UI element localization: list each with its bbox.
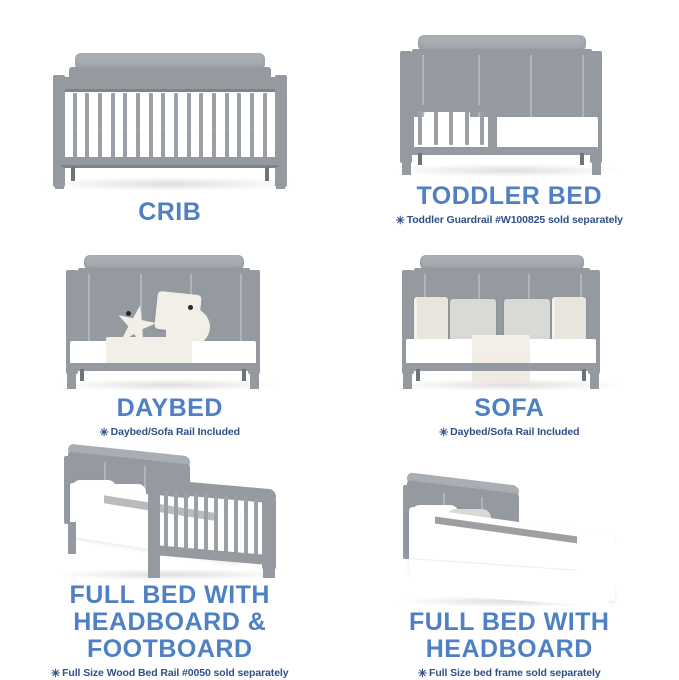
crib-photo bbox=[0, 0, 340, 199]
crib-back-panel-edge bbox=[57, 89, 283, 92]
toddler-bed-photo bbox=[340, 0, 679, 183]
sofa-support-right bbox=[582, 369, 586, 381]
full-bed-hf-leg-back bbox=[263, 562, 275, 578]
toddler-bed-guardrail-left-post bbox=[406, 105, 414, 149]
daybed-leg-right bbox=[250, 371, 259, 389]
daybed-photo bbox=[0, 226, 340, 395]
daybed-illustration bbox=[48, 245, 292, 395]
crib-caption: CRIB bbox=[0, 199, 340, 226]
daybed-leg-left bbox=[67, 371, 76, 389]
full-bed-hf-shadow bbox=[58, 569, 282, 580]
product-cell-full-bed-headboard: FULL BED WITH HEADBOARD ✳Full Size bed f… bbox=[340, 438, 679, 679]
toddler-bed-side-rail bbox=[406, 147, 598, 155]
crib-leg-left bbox=[55, 167, 64, 189]
full-bed-hf-title: FULL BED WITH HEADBOARD & FOOTBOARD bbox=[0, 582, 340, 663]
crib-title: CRIB bbox=[0, 199, 340, 226]
conversion-chart-grid: CRIB bbox=[0, 0, 679, 679]
sofa-cushion-1 bbox=[414, 297, 448, 343]
toddler-bed-support-left bbox=[418, 153, 422, 165]
full-bed-hf-note-text: Full Size Wood Bed Rail #0050 sold separ… bbox=[62, 667, 288, 679]
product-cell-crib: CRIB bbox=[0, 0, 340, 226]
daybed-shadow bbox=[60, 379, 280, 391]
asterisk-icon: ✳ bbox=[51, 667, 60, 680]
product-cell-sofa: SOFA ✳Daybed/Sofa Rail Included bbox=[340, 226, 679, 438]
sofa-note-text: Daybed/Sofa Rail Included bbox=[450, 426, 579, 438]
sofa-leg-left bbox=[403, 371, 412, 389]
toddler-bed-note-text: Toddler Guardrail #W100825 sold separate… bbox=[407, 214, 623, 226]
full-bed-hf-caption: FULL BED WITH HEADBOARD & FOOTBOARD ✳Ful… bbox=[0, 582, 340, 679]
crib-bottom-rail-edge bbox=[61, 165, 279, 168]
crib-support-right bbox=[265, 167, 269, 181]
daybed-pillow-star-eye bbox=[126, 311, 131, 316]
crib-support-left bbox=[71, 167, 75, 181]
full-bed-h-note-text: Full Size bed frame sold separately bbox=[429, 667, 601, 679]
daybed-support-left bbox=[80, 369, 84, 381]
full-bed-hf-side-rail bbox=[68, 522, 76, 554]
sofa-rail bbox=[404, 363, 600, 371]
crib-illustration bbox=[31, 31, 309, 199]
full-bed-hf-note: ✳Full Size Wood Bed Rail #0050 sold sepa… bbox=[0, 666, 340, 679]
sofa-leg-right bbox=[590, 371, 599, 389]
daybed-blanket bbox=[106, 337, 192, 363]
full-bed-h-note: ✳Full Size bed frame sold separately bbox=[340, 666, 679, 679]
full-bed-headboard-photo bbox=[340, 438, 679, 609]
daybed-caption: DAYBED ✳Daybed/Sofa Rail Included bbox=[0, 395, 340, 438]
full-bed-h-illustration bbox=[381, 469, 637, 609]
daybed-pillow-moon-eye bbox=[188, 305, 193, 310]
asterisk-icon: ✳ bbox=[418, 667, 427, 680]
sofa-caption: SOFA ✳Daybed/Sofa Rail Included bbox=[340, 395, 679, 438]
product-cell-full-bed-headboard-footboard: FULL BED WITH HEADBOARD & FOOTBOARD ✳Ful… bbox=[0, 438, 340, 679]
full-bed-hf-illustration bbox=[44, 442, 296, 582]
sofa-support-left bbox=[416, 369, 420, 381]
full-bed-h-title: FULL BED WITH HEADBOARD bbox=[340, 609, 679, 663]
sofa-note: ✳Daybed/Sofa Rail Included bbox=[340, 425, 679, 438]
product-cell-daybed: DAYBED ✳Daybed/Sofa Rail Included bbox=[0, 226, 340, 438]
toddler-bed-leg-right bbox=[592, 155, 601, 175]
daybed-title: DAYBED bbox=[0, 395, 340, 422]
full-bed-hf-leg-front bbox=[148, 558, 160, 578]
daybed-rail bbox=[68, 363, 260, 371]
crib-leg-right bbox=[276, 167, 285, 189]
product-cell-toddler-bed: TODDLER BED ✳Toddler Guardrail #W100825 … bbox=[340, 0, 679, 226]
daybed-support-right bbox=[242, 369, 246, 381]
toddler-bed-leg-left bbox=[402, 155, 411, 175]
toddler-bed-support-right bbox=[580, 153, 584, 165]
daybed-note: ✳Daybed/Sofa Rail Included bbox=[0, 425, 340, 438]
sofa-throw bbox=[472, 335, 530, 383]
toddler-bed-note: ✳Toddler Guardrail #W100825 sold separat… bbox=[340, 213, 679, 226]
daybed-note-text: Daybed/Sofa Rail Included bbox=[111, 426, 240, 438]
toddler-bed-guardrail-right-post bbox=[488, 105, 497, 149]
toddler-bed-caption: TODDLER BED ✳Toddler Guardrail #W100825 … bbox=[340, 183, 679, 226]
crib-slats-lower bbox=[73, 129, 267, 159]
crib-shadow bbox=[45, 177, 295, 191]
toddler-bed-shadow bbox=[395, 164, 623, 177]
toddler-bed-illustration bbox=[384, 21, 634, 183]
full-bed-h-caption: FULL BED WITH HEADBOARD ✳Full Size bed f… bbox=[340, 609, 679, 679]
toddler-bed-guardrail-slats bbox=[418, 111, 484, 145]
sofa-cushion-4 bbox=[552, 297, 586, 343]
full-bed-headboard-footboard-photo bbox=[0, 438, 340, 582]
toddler-bed-title: TODDLER BED bbox=[340, 183, 679, 210]
sofa-photo bbox=[340, 226, 679, 395]
sofa-illustration bbox=[384, 245, 634, 395]
sofa-title: SOFA bbox=[340, 395, 679, 422]
